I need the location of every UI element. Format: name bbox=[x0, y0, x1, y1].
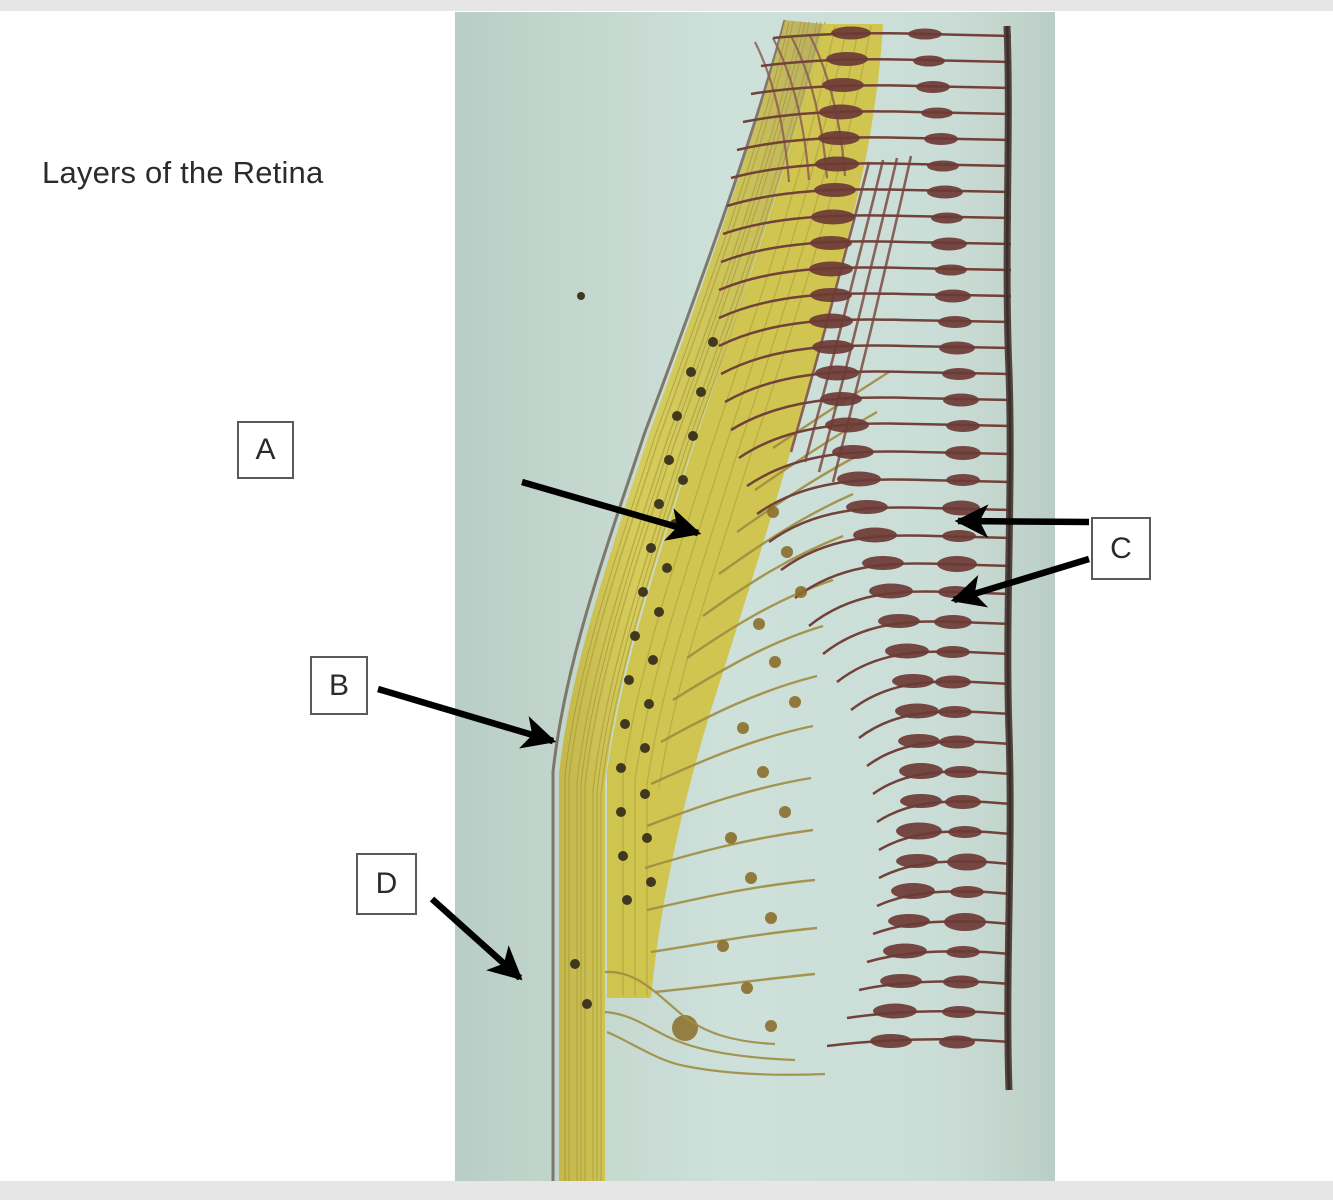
label-box-d[interactable]: D bbox=[356, 853, 417, 915]
retina-figure-panel bbox=[455, 12, 1055, 1181]
label-box-b[interactable]: B bbox=[310, 656, 368, 715]
slide-stage: Layers of the Retina A B C D bbox=[0, 0, 1333, 1200]
top-gray-band bbox=[0, 0, 1333, 11]
label-box-c[interactable]: C bbox=[1091, 517, 1151, 580]
page-title: Layers of the Retina bbox=[42, 155, 323, 191]
label-box-a[interactable]: A bbox=[237, 421, 294, 479]
retina-histology-image bbox=[455, 12, 1055, 1181]
bottom-gray-band bbox=[0, 1181, 1333, 1200]
